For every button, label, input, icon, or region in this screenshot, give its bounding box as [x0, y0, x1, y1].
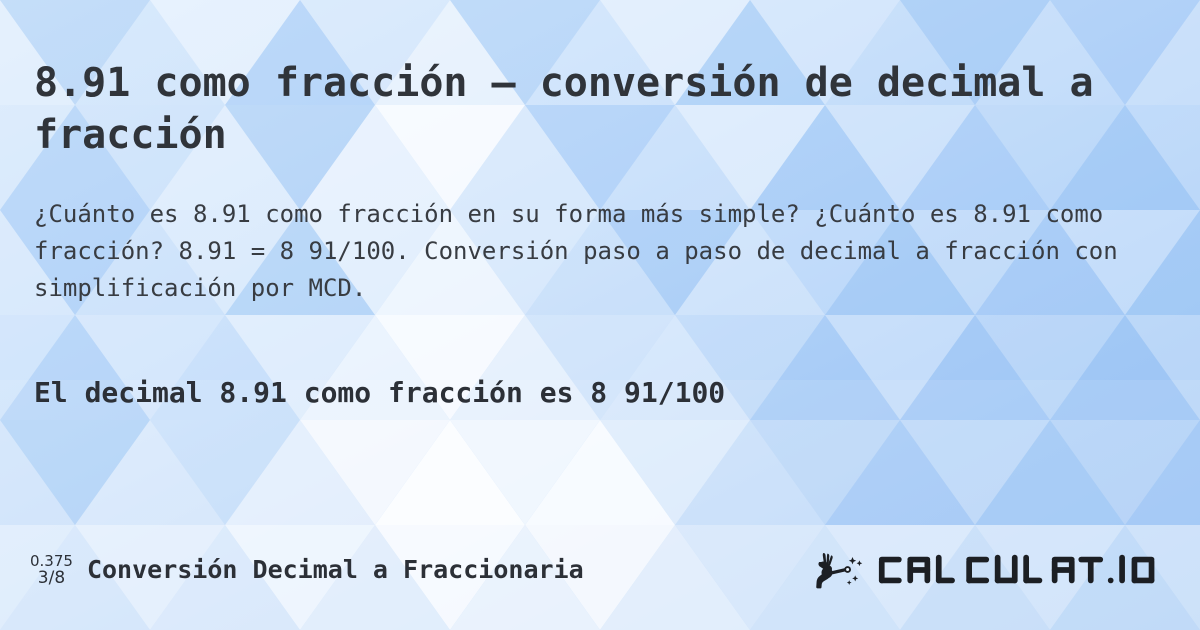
site-name: Conversión Decimal a Fraccionaria [87, 555, 584, 584]
fraction-logo-icon: 0.375 3/8 [30, 553, 73, 588]
site-brand[interactable]: 0.375 3/8 Conversión Decimal a Fracciona… [30, 553, 584, 588]
fraction-logo-decimal: 0.375 [30, 553, 73, 569]
page-title: 8.91 como fracción – conversión de decim… [34, 57, 1154, 161]
calculatio-wordmark: CALCULAT.IO [877, 551, 1170, 589]
page-description: ¿Cuánto es 8.91 como fracción en su form… [34, 196, 1164, 307]
calculatio-brand[interactable]: CALCULAT.IO [815, 550, 1170, 590]
footer: 0.375 3/8 Conversión Decimal a Fracciona… [0, 540, 1200, 600]
answer-statement: El decimal 8.91 como fracción es 8 91/10… [34, 373, 1164, 413]
fraction-logo-fraction: 3/8 [38, 569, 65, 587]
og-card: 8.91 como fracción – conversión de decim… [0, 0, 1200, 630]
magic-wand-hand-icon [815, 550, 871, 590]
